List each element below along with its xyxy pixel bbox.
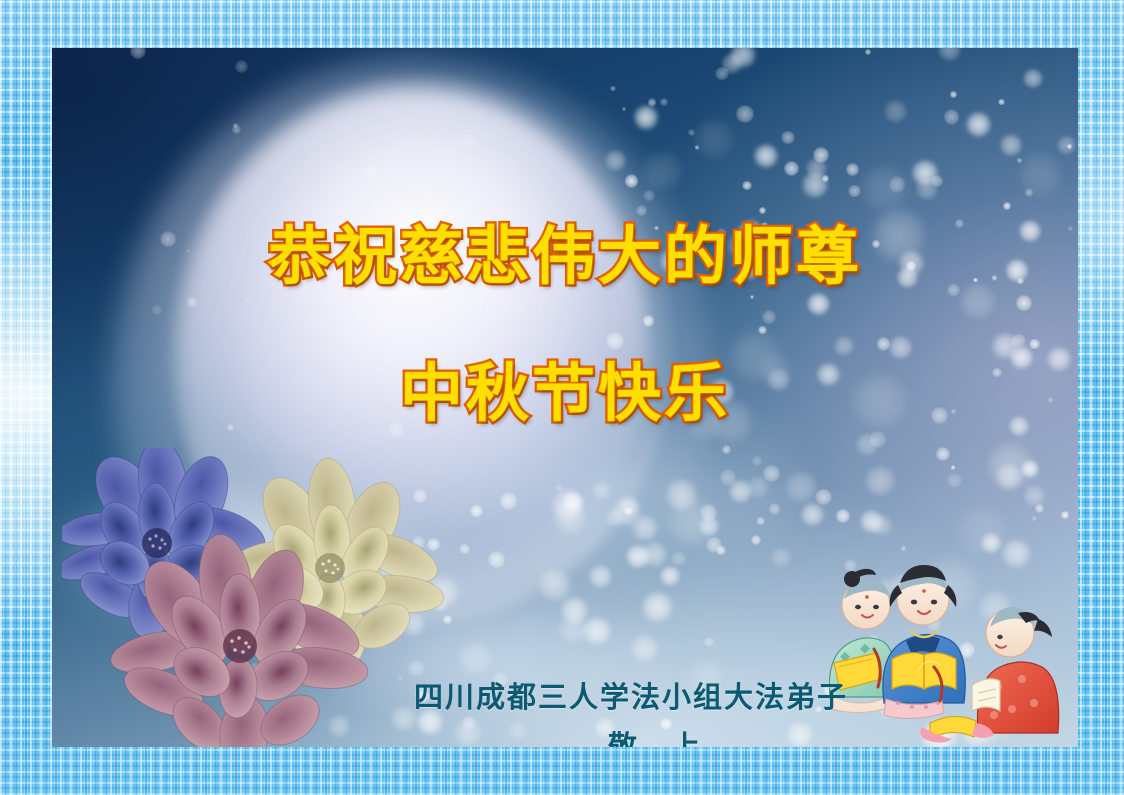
greeting-card: 恭祝慈悲伟大的师尊 中秋节快乐 四川成都三人学法小组大法弟子 敬 上 二零一九年… — [0, 0, 1124, 795]
text-layer: 恭祝慈悲伟大的师尊 中秋节快乐 四川成都三人学法小组大法弟子 敬 上 二零一九年… — [52, 48, 1078, 747]
greeting-title-line-1: 恭祝慈悲伟大的师尊 — [52, 206, 1078, 297]
card-artwork: 恭祝慈悲伟大的师尊 中秋节快乐 四川成都三人学法小组大法弟子 敬 上 二零一九年… — [52, 48, 1078, 747]
signature-group: 四川成都三人学法小组大法弟子 — [414, 674, 848, 716]
greeting-title-line-2: 中秋节快乐 — [52, 343, 1078, 434]
signature-closing: 敬 上 — [608, 723, 712, 747]
